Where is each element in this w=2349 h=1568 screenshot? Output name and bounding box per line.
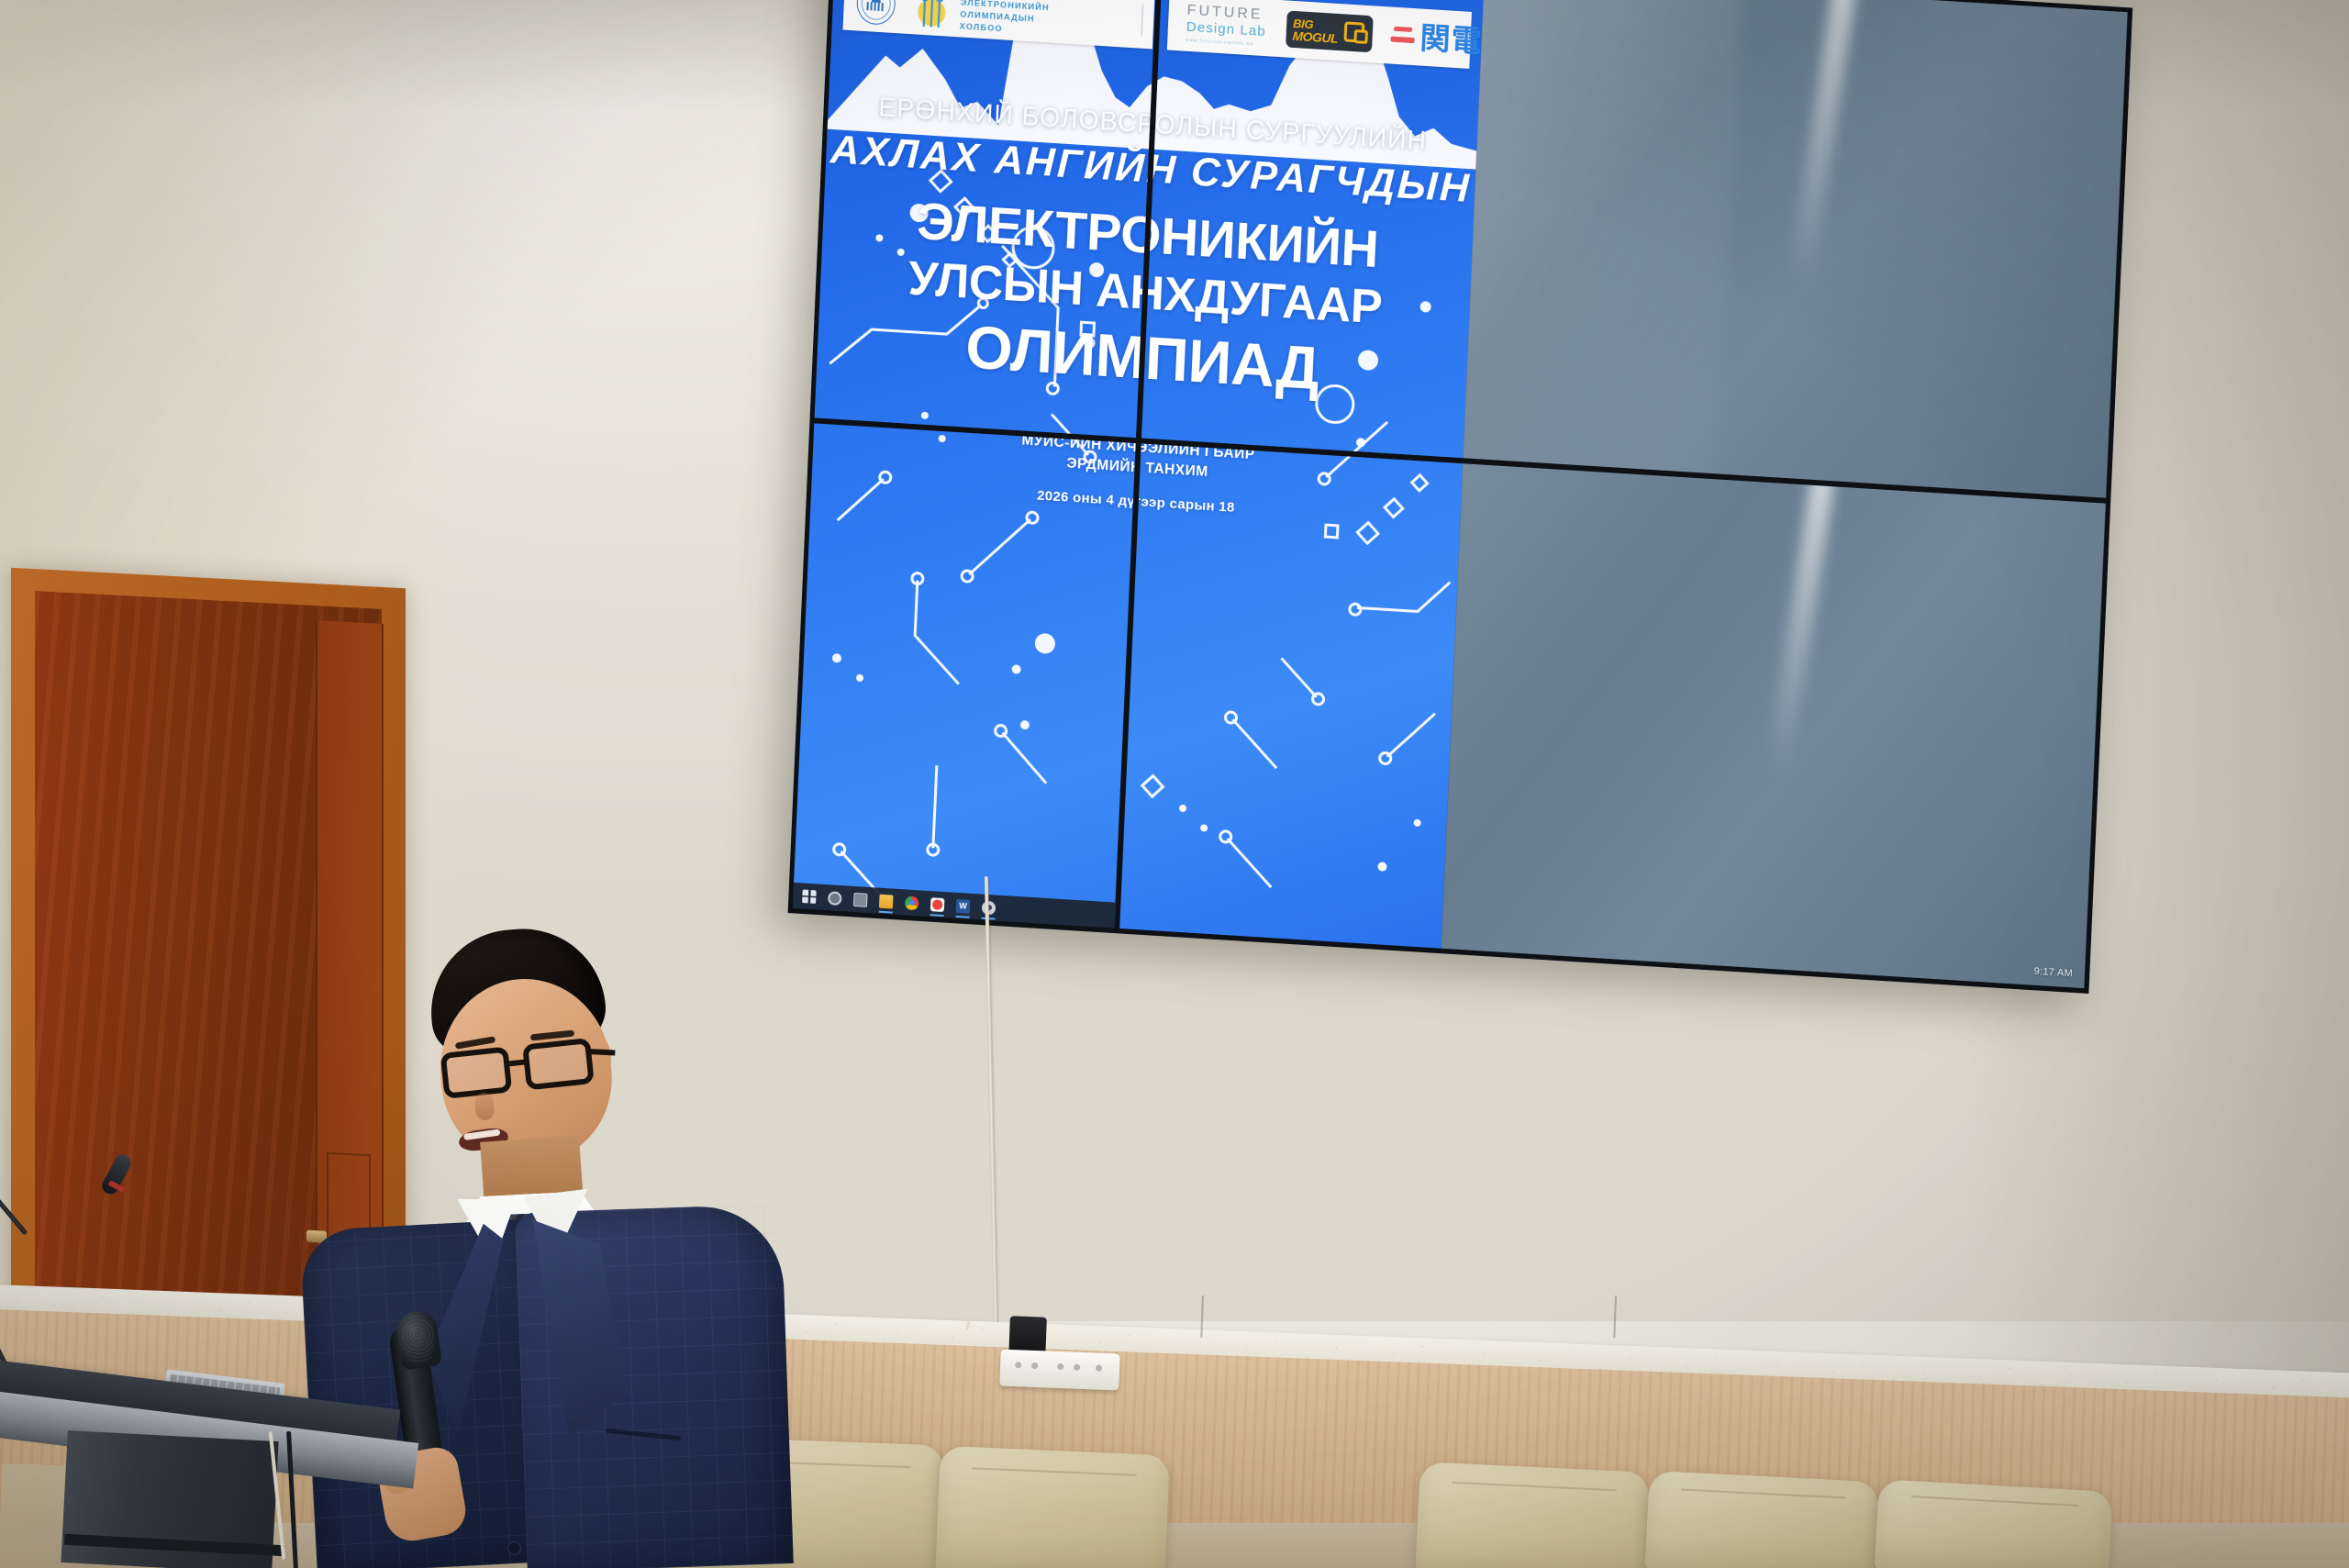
kandenko-kanji: 関電工 xyxy=(1419,22,1485,58)
conference-room-scene: ЕРӨНХИЙ ЗОХИОН БАЙГУУЛАГЧ xyxy=(0,0,2349,1568)
nose xyxy=(474,1092,495,1121)
num-seal-icon xyxy=(856,0,896,26)
glasses-temple xyxy=(587,1049,615,1056)
meox-logo: МОНГОЛЫН ЭЛЕКТРОНИКИЙН ОЛИМПИАДЫН ХОЛБОО xyxy=(911,0,1051,39)
acrobat-icon[interactable] xyxy=(930,897,945,912)
panel-top-right xyxy=(1463,0,2127,497)
bigmogul-square2-icon xyxy=(1353,29,1368,44)
chair[interactable] xyxy=(935,1446,1170,1568)
bigmogul-line-2: MOGUL xyxy=(1292,28,1338,46)
kandenko-logo: 関電工 xyxy=(1390,20,1485,58)
search-icon[interactable] xyxy=(828,891,842,906)
kandenko-mark-icon xyxy=(1390,25,1415,49)
jacket-button xyxy=(508,1542,520,1554)
strip-divider xyxy=(1141,5,1143,36)
chair[interactable] xyxy=(1415,1462,1649,1568)
power-strip[interactable] xyxy=(999,1350,1119,1391)
task-view-icon[interactable] xyxy=(853,892,868,906)
lens-right xyxy=(522,1038,595,1090)
big-mogul-logo: BIG MOGUL xyxy=(1286,10,1374,52)
lens-left xyxy=(440,1046,513,1098)
presentation-slide: ЕРӨНХИЙ ЗОХИОН БАЙГУУЛАГЧ xyxy=(793,0,1485,949)
chair[interactable] xyxy=(1874,1479,2112,1568)
meox-logo-text: МОНГОЛЫН ЭЛЕКТРОНИКИЙН ОЛИМПИАДЫН ХОЛБОО xyxy=(959,0,1050,39)
meox-circuit-icon xyxy=(911,0,953,30)
panel-bottom-right xyxy=(1442,463,2106,988)
chrome-icon[interactable] xyxy=(905,895,919,910)
start-icon[interactable] xyxy=(802,889,817,904)
file-explorer-icon[interactable] xyxy=(879,894,894,908)
video-wall-display[interactable]: ЕРӨНХИЙ ЗОХИОН БАЙГУУЛАГЧ xyxy=(788,0,2132,993)
future-design-lab-logo: FUTURE Design Lab www.futuredesignlab.mn xyxy=(1186,4,1267,47)
chair[interactable] xyxy=(1644,1471,1878,1568)
system-clock: 9:17 AM xyxy=(2033,966,2073,980)
word-icon[interactable] xyxy=(956,898,971,913)
